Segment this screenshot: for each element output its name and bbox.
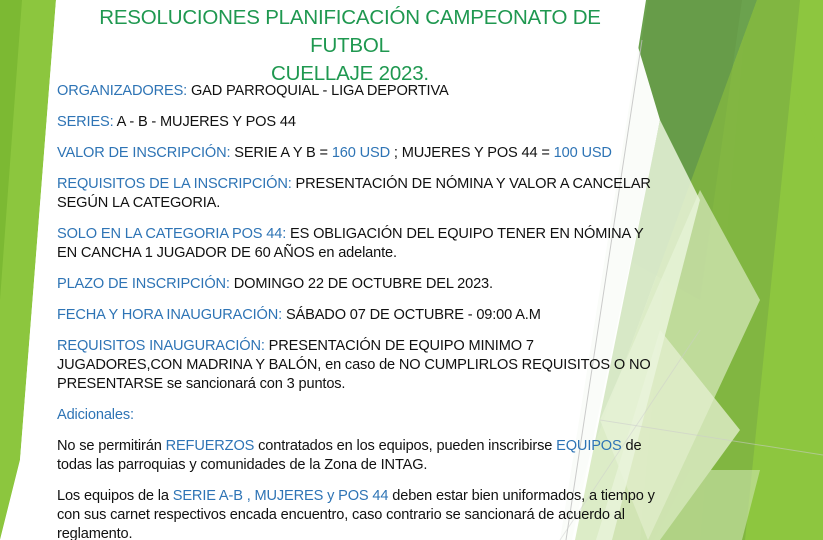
additional-item-2: Los equipos de la SERIE A-B , MUJERES y …: [57, 487, 657, 540]
additional-item-2-text-1: Los equipos de la: [57, 488, 173, 504]
additional-heading-label: Adicionales:: [57, 407, 134, 423]
additional-item-1-highlight-refuerzos: REFUERZOS: [166, 438, 255, 454]
entry-solo-categoria-pos44: SOLO EN LA CATEGORIA POS 44: ES OBLIGACI…: [57, 225, 657, 263]
entry-organizadores-value: GAD PARROQUIAL - LIGA DEPORTIVA: [187, 83, 448, 99]
entry-fecha-hora-inauguracion: FECHA Y HORA INAUGURACIÓN: SÁBADO 07 DE …: [57, 306, 657, 325]
additional-heading: Adicionales:: [57, 406, 657, 425]
entry-plazo-inscripcion: PLAZO DE INSCRIPCIÓN: DOMINGO 22 DE OCTU…: [57, 275, 657, 294]
slide-title-line-1: RESOLUCIONES PLANIFICACIÓN CAMPEONATO DE…: [99, 6, 601, 57]
entry-series-value: A - B - MUJERES Y POS 44: [114, 114, 296, 130]
slide-body: ORGANIZADORES: GAD PARROQUIAL - LIGA DEP…: [57, 82, 657, 540]
slide-content: RESOLUCIONES PLANIFICACIÓN CAMPEONATO DE…: [0, 0, 823, 540]
additional-item-1-highlight-equipos: EQUIPOS: [556, 438, 621, 454]
entry-series: SERIES: A - B - MUJERES Y POS 44: [57, 113, 657, 132]
entry-requisitos-inscripcion: REQUISITOS DE LA INSCRIPCIÓN: PRESENTACI…: [57, 175, 657, 213]
entry-fecha-hora-inauguracion-label: FECHA Y HORA INAUGURACIÓN:: [57, 307, 282, 323]
entry-requisitos-inauguracion: REQUISITOS INAUGURACIÓN: PRESENTACIÓN DE…: [57, 337, 657, 394]
entry-plazo-inscripcion-label: PLAZO DE INSCRIPCIÓN:: [57, 276, 230, 292]
entry-valor-inscripcion-value-2: ; MUJERES Y POS 44 =: [390, 145, 554, 161]
additional-item-2-highlight-series: SERIE A-B , MUJERES y POS 44: [173, 488, 389, 504]
entry-solo-categoria-pos44-label: SOLO EN LA CATEGORIA POS 44:: [57, 226, 286, 242]
slide-title: RESOLUCIONES PLANIFICACIÓN CAMPEONATO DE…: [60, 4, 640, 88]
slide-canvas: RESOLUCIONES PLANIFICACIÓN CAMPEONATO DE…: [0, 0, 823, 540]
entry-plazo-inscripcion-value: DOMINGO 22 DE OCTUBRE DEL 2023.: [230, 276, 493, 292]
entry-organizadores: ORGANIZADORES: GAD PARROQUIAL - LIGA DEP…: [57, 82, 657, 101]
entry-valor-inscripcion-label: VALOR DE INSCRIPCIÓN:: [57, 145, 230, 161]
additional-item-1-text-1: No se permitirán: [57, 438, 166, 454]
entry-fecha-hora-inauguracion-value: SÁBADO 07 DE OCTUBRE - 09:00 A.M: [282, 307, 541, 323]
entry-requisitos-inscripcion-label: REQUISITOS DE LA INSCRIPCIÓN:: [57, 176, 292, 192]
entry-valor-inscripcion-value-1: SERIE A Y B =: [230, 145, 331, 161]
entry-valor-inscripcion-amount-2: 100 USD: [554, 145, 612, 161]
additional-item-1: No se permitirán REFUERZOS contratados e…: [57, 437, 657, 475]
entry-series-label: SERIES:: [57, 114, 114, 130]
entry-valor-inscripcion-amount-1: 160 USD: [332, 145, 390, 161]
entry-valor-inscripcion: VALOR DE INSCRIPCIÓN: SERIE A Y B = 160 …: [57, 144, 657, 163]
entry-organizadores-label: ORGANIZADORES:: [57, 83, 187, 99]
entry-requisitos-inauguracion-label: REQUISITOS INAUGURACIÓN:: [57, 338, 265, 354]
additional-item-1-text-2: contratados en los equipos, pueden inscr…: [254, 438, 556, 454]
